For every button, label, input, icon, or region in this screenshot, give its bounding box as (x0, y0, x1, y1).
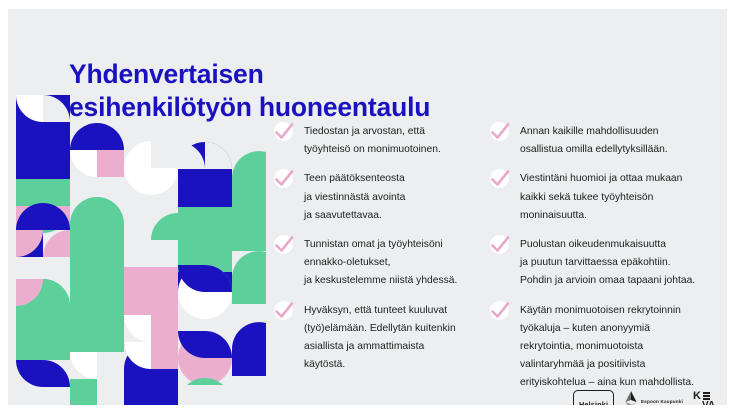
check-icon (490, 169, 509, 188)
check-icon (490, 122, 509, 141)
helsinki-logo-box: Helsinki (573, 390, 614, 405)
checklist-column-right: Annan kaikille mahdollisuuden osallistua… (490, 121, 705, 402)
list-item: Tiedostan ja arvostan, että työyhteisö o… (274, 121, 479, 157)
list-item-text: Puolustan oikeudenmukaisuutta ja puutun … (520, 239, 695, 286)
keva-logo-va: VA (702, 401, 715, 405)
keva-logo: K VA (693, 391, 719, 405)
check-icon (274, 301, 293, 320)
check-icon (274, 169, 293, 188)
list-item: Viestintäni huomioi ja ottaa mukaan kaik… (490, 168, 705, 223)
pattern-svg (8, 95, 266, 405)
helsinki-logo: Helsinki (573, 390, 614, 405)
list-item-text: Hyväksyn, että tunteet kuuluvat (työ)elä… (304, 305, 456, 371)
list-item: Annan kaikille mahdollisuuden osallistua… (490, 121, 705, 157)
checklist-column-left: Tiedostan ja arvostan, että työyhteisö o… (274, 121, 479, 383)
list-item: Käytän monimuotoisen rekrytoinnin työkal… (490, 300, 705, 391)
list-item-text: Käytän monimuotoisen rekrytoinnin työkal… (520, 305, 694, 389)
slide-canvas: Yhdenvertaisen esihenkilötyön huoneentau… (8, 9, 727, 405)
list-item-text: Tiedostan ja arvostan, että työyhteisö o… (304, 126, 441, 155)
list-item-text: Viestintäni huomioi ja ottaa mukaan kaik… (520, 173, 682, 220)
espoo-logo-mark (624, 391, 638, 405)
keva-logo-k: K (693, 391, 701, 402)
title-line-1: Yhdenvertaisen (69, 59, 264, 89)
check-icon (274, 122, 293, 141)
page-title: Yhdenvertaisen esihenkilötyön huoneentau… (69, 58, 589, 124)
list-item-text: Teen päätöksenteosta ja viestinnästä avo… (304, 173, 405, 220)
list-item-text: Tunnistan omat ja työyhteisöni ennakko-o… (304, 239, 457, 286)
footer-logos: Helsinki Espoon Kaupunki (568, 390, 723, 405)
check-icon (490, 235, 509, 254)
list-item: Hyväksyn, että tunteet kuuluvat (työ)elä… (274, 300, 479, 373)
list-item: Teen päätöksenteosta ja viestinnästä avo… (274, 168, 479, 223)
abstract-shape-pattern (8, 95, 266, 405)
helsinki-logo-label: Helsinki (579, 400, 608, 406)
espoo-logo: Espoon Kaupunki Esbo Stad · City of Espo… (624, 391, 683, 405)
check-icon (490, 301, 509, 320)
espoo-logo-text: Espoon Kaupunki Esbo Stad · City of Espo… (641, 399, 683, 405)
list-item: Puolustan oikeudenmukaisuutta ja puutun … (490, 234, 705, 289)
title-line-2: esihenkilötyön huoneentaulu (69, 91, 589, 124)
list-item-text: Annan kaikille mahdollisuuden osallistua… (520, 126, 668, 155)
check-icon (274, 235, 293, 254)
list-item: Tunnistan omat ja työyhteisöni ennakko-o… (274, 234, 479, 289)
